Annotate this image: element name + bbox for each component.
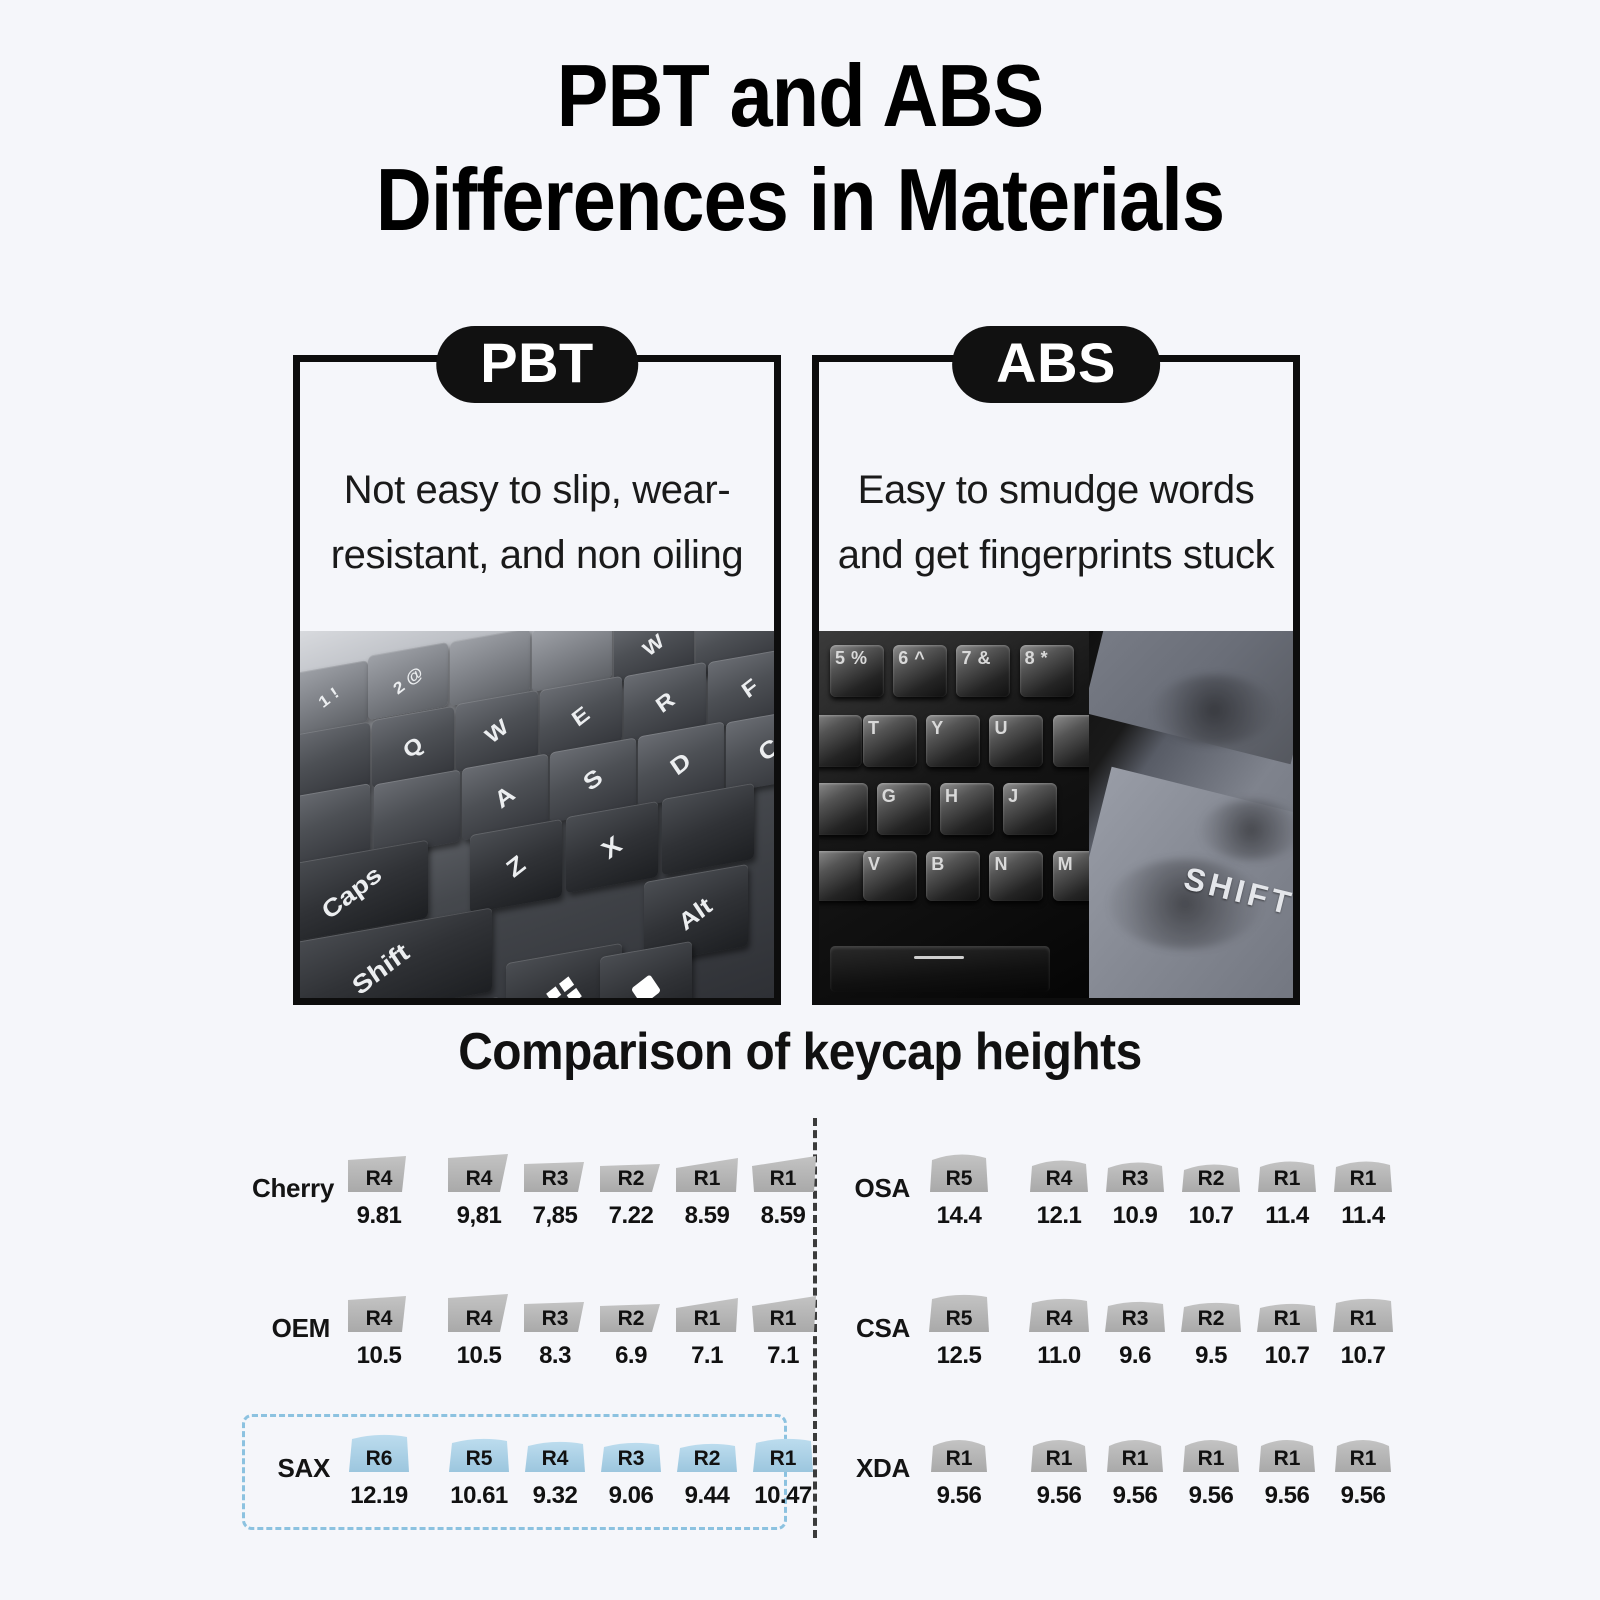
keycap-shape-icon: R3 [1100, 1286, 1170, 1338]
keycap-item: R310.9 [1100, 1146, 1170, 1230]
keycap-shape-icon: R1 [1252, 1426, 1322, 1478]
keycap-shape-icon: R1 [672, 1146, 742, 1198]
keycap-item: R49.32 [520, 1426, 590, 1510]
keycap-height-value: 14.4 [937, 1202, 982, 1230]
keycap-item: R410.5 [344, 1286, 414, 1370]
abs-key-6: 6 ^ [893, 645, 947, 697]
keycap-shape-icon: R1 [1252, 1146, 1322, 1198]
keycap-shape-icon: R1 [1328, 1426, 1398, 1478]
keycap-shape-icon: R6 [344, 1426, 414, 1478]
keycap-item: R111.4 [1252, 1146, 1322, 1230]
profile-row-osa: OSA R514.4 R412.1 R310.9 R210.7 [832, 1118, 1377, 1258]
keycap-shape-icon: R1 [1100, 1426, 1170, 1478]
keycap-item: R110.7 [1252, 1286, 1322, 1370]
keycap-item: R510.61 [444, 1426, 514, 1510]
menu-icon [631, 974, 661, 998]
abs-key-j: J [1003, 783, 1057, 835]
keycap-height-value: 9.56 [1189, 1482, 1234, 1510]
keycap-item: R39.06 [596, 1426, 666, 1510]
keycap-shape-icon: R1 [1176, 1426, 1246, 1478]
keycap-height-value: 7,85 [533, 1202, 578, 1230]
keycap-list: R49.81 R49,81 R37,85 R27.22 R18.59 [340, 1146, 818, 1230]
keycap-item: R27.22 [596, 1146, 666, 1230]
keycap-shape-icon: R2 [1176, 1146, 1246, 1198]
profile-label: CSA [832, 1313, 920, 1344]
keycap-height-value: 8.59 [761, 1202, 806, 1230]
profile-row-sax: SAX R612.19 R510.61 R49.32 R39.06 [252, 1398, 797, 1538]
keycap-shape-icon: R4 [1024, 1146, 1094, 1198]
abs-key-h: H [940, 783, 994, 835]
profile-label: XDA [832, 1453, 920, 1484]
abs-key-space [830, 946, 1050, 992]
keycap-item: R210.7 [1176, 1146, 1246, 1230]
abs-smudge-1 [1154, 675, 1274, 745]
abs-key-m: M [1053, 851, 1094, 901]
keycap-height-value: 7.1 [767, 1342, 799, 1370]
keycap-item: R19.56 [1100, 1426, 1170, 1510]
keycap-height-value: 11.4 [1341, 1202, 1384, 1230]
abs-key-b: B [926, 851, 980, 901]
keycap-item: R110.7 [1328, 1286, 1398, 1370]
keycap-item: R29.44 [672, 1426, 742, 1510]
abs-greasy-shift-image: SHIFT [1089, 631, 1293, 998]
keycap-item: R19.56 [1176, 1426, 1246, 1510]
photo-abs-keyboard: 5 % 6 ^ 7 & 8 * T Y U G H J V B N M [819, 631, 1293, 998]
abs-key-y: Y [926, 715, 980, 767]
keycap-height-value: 10.5 [357, 1342, 402, 1370]
keycap-item: R29.5 [1176, 1286, 1246, 1370]
keycap-height-value: 9.56 [1037, 1482, 1082, 1510]
keycap-item: R39.6 [1100, 1286, 1170, 1370]
abs-key-u: U [989, 715, 1043, 767]
comparison-column-right: OSA R514.4 R412.1 R310.9 R210.7 [832, 1118, 1377, 1538]
keycap-shape-icon: R1 [1024, 1426, 1094, 1478]
keycap-height-value: 10.7 [1265, 1342, 1310, 1370]
keycap-item: R37,85 [520, 1146, 590, 1230]
panel-abs: ABS Easy to smudge words and get fingerp… [812, 355, 1300, 1005]
abs-key-8: 8 * [1020, 645, 1074, 697]
keycap-height-value: 11.0 [1037, 1342, 1080, 1370]
panel-caption-pbt: Not easy to slip, wear-resistant, and no… [316, 458, 758, 588]
profile-label: SAX [252, 1453, 340, 1484]
abs-key-5: 5 % [830, 645, 884, 697]
keycap-height-value: 7.22 [609, 1202, 654, 1230]
keycap-height-value: 9.81 [357, 1202, 402, 1230]
keycap-item: R49,81 [444, 1146, 514, 1230]
keycap-shape-icon: R1 [1328, 1286, 1398, 1338]
keycap-item: R18.59 [672, 1146, 742, 1230]
material-comparison-panels: PBT Not easy to slip, wear-resistant, an… [0, 355, 1600, 1015]
page-title: PBT and ABS Differences in Materials [0, 44, 1600, 252]
keycap-shape-icon: R3 [520, 1146, 590, 1198]
keycap-shape-icon: R1 [748, 1146, 818, 1198]
abs-key-r [819, 715, 862, 767]
keycap-shape-icon: R4 [444, 1146, 514, 1198]
keycap-shape-icon: R1 [1328, 1146, 1398, 1198]
keycap-item: R514.4 [924, 1146, 994, 1230]
photo-pbt-keyboard: 1 ! 2 @ W Q W E R F A S D C [300, 631, 774, 998]
abs-key-v: V [863, 851, 917, 901]
panel-pbt: PBT Not easy to slip, wear-resistant, an… [293, 355, 781, 1005]
keycap-height-value: 9.44 [685, 1482, 730, 1510]
keycap-shape-icon: R2 [672, 1426, 742, 1478]
keycap-height-value: 9.56 [1341, 1482, 1386, 1510]
keycap-item: R110.47 [748, 1426, 818, 1510]
keycap-height-value: 7.1 [691, 1342, 723, 1370]
keycap-list: R512.5 R411.0 R39.6 R29.5 R110.7 [920, 1286, 1398, 1370]
abs-key-c [819, 851, 868, 901]
comparison-column-left: Cherry R49.81 R49,81 R37,85 R27.22 [252, 1118, 797, 1538]
abs-key-7: 7 & [956, 645, 1010, 697]
keycap-shape-icon: R4 [1024, 1286, 1094, 1338]
keycap-height-value: 9.32 [533, 1482, 578, 1510]
panel-caption-abs: Easy to smudge words and get fingerprint… [835, 458, 1277, 588]
keycap-shape-icon: R1 [672, 1286, 742, 1338]
keycap-height-value: 9.56 [1113, 1482, 1158, 1510]
keycap-shape-icon: R1 [748, 1286, 818, 1338]
keycap-height-value: 9.56 [1265, 1482, 1310, 1510]
keycap-shape-icon: R2 [1176, 1286, 1246, 1338]
keycap-height-value: 9.6 [1119, 1342, 1151, 1370]
keycap-shape-icon: R2 [596, 1146, 666, 1198]
keycap-item: R26.9 [596, 1286, 666, 1370]
profile-row-oem: OEM R410.5 R410.5 R38.3 R26.9 [252, 1258, 797, 1398]
keycap-item: R19.56 [1252, 1426, 1322, 1510]
keycap-shape-icon: R3 [520, 1286, 590, 1338]
keycap-shape-icon: R3 [596, 1426, 666, 1478]
abs-key-t: T [863, 715, 917, 767]
keycap-height-value: 12.1 [1037, 1202, 1082, 1230]
keycap-height-value: 6.9 [615, 1342, 647, 1370]
keycap-shape-icon: R3 [1100, 1146, 1170, 1198]
pbt-key-c-right: C [726, 707, 774, 792]
keycap-shape-icon: R1 [1252, 1286, 1322, 1338]
abs-key-f [819, 783, 868, 835]
keycap-height-value: 10.7 [1189, 1202, 1234, 1230]
keycap-height-value: 8.3 [539, 1342, 571, 1370]
keycap-list: R612.19 R510.61 R49.32 R39.06 R29.44 [340, 1426, 818, 1510]
abs-key-g: G [877, 783, 931, 835]
pbt-key-z: Z [470, 819, 562, 913]
keycap-shape-icon: R4 [520, 1426, 590, 1478]
keycap-shape-icon: R4 [444, 1286, 514, 1338]
keycap-item: R512.5 [924, 1286, 994, 1370]
keycap-shape-icon: R2 [596, 1286, 666, 1338]
keycap-height-comparison: Cherry R49.81 R49,81 R37,85 R27.22 [0, 1118, 1600, 1548]
abs-smudge-3 [1201, 800, 1293, 860]
keycap-shape-icon: R4 [344, 1286, 414, 1338]
windows-icon [546, 976, 582, 998]
pbt-key-c [662, 783, 754, 875]
panel-badge-abs: ABS [952, 326, 1160, 403]
keycap-item: R410.5 [444, 1286, 514, 1370]
keycap-list: R19.56 R19.56 R19.56 R19.56 R19.56 [920, 1426, 1398, 1510]
profile-row-cherry: Cherry R49.81 R49,81 R37,85 R27.22 [252, 1118, 797, 1258]
keycap-item: R19.56 [924, 1426, 994, 1510]
keycap-height-value: 11.4 [1265, 1202, 1308, 1230]
keycap-item: R411.0 [1024, 1286, 1094, 1370]
keycap-item: R18.59 [748, 1146, 818, 1230]
keycap-item: R17.1 [748, 1286, 818, 1370]
keycap-height-value: 9,81 [457, 1202, 502, 1230]
keycap-item: R111.4 [1328, 1146, 1398, 1230]
keycap-height-value: 9.06 [609, 1482, 654, 1510]
abs-worn-keyboard-image: 5 % 6 ^ 7 & 8 * T Y U G H J V B N M [819, 631, 1094, 998]
keycap-height-value: 8.59 [685, 1202, 730, 1230]
page-title-line-1: PBT and ABS [96, 44, 1504, 148]
section-heading-keycap-heights: Comparison of keycap heights [64, 1022, 1536, 1082]
keycap-height-value: 10.7 [1341, 1342, 1386, 1370]
profile-label: OEM [252, 1313, 340, 1344]
keycap-list: R410.5 R410.5 R38.3 R26.9 R17.1 [340, 1286, 818, 1370]
keycap-shape-icon: R4 [344, 1146, 414, 1198]
keycap-height-value: 10.5 [457, 1342, 502, 1370]
keycap-height-value: 9.56 [937, 1482, 982, 1510]
keycap-shape-icon: R5 [444, 1426, 514, 1478]
keycap-height-value: 10.61 [450, 1482, 508, 1510]
keycap-item: R612.19 [344, 1426, 414, 1510]
keycap-item: R17.1 [672, 1286, 742, 1370]
abs-key-n: N [989, 851, 1043, 901]
keycap-height-value: 10.9 [1113, 1202, 1158, 1230]
keycap-height-value: 12.19 [350, 1482, 408, 1510]
keycap-shape-icon: R5 [924, 1286, 994, 1338]
keycap-shape-icon: R5 [924, 1146, 994, 1198]
keycap-item: R49.81 [344, 1146, 414, 1230]
panel-badge-pbt: PBT [436, 326, 638, 403]
page-title-line-2: Differences in Materials [96, 148, 1504, 252]
keycap-item: R19.56 [1328, 1426, 1398, 1510]
abs-key-i [1053, 715, 1094, 767]
keycap-height-value: 12.5 [937, 1342, 982, 1370]
profile-label: OSA [832, 1173, 920, 1204]
keycap-item: R19.56 [1024, 1426, 1094, 1510]
profile-row-xda: XDA R19.56 R19.56 R19.56 R19.56 [832, 1398, 1377, 1538]
keycap-item: R412.1 [1024, 1146, 1094, 1230]
pbt-key-x: X [566, 801, 658, 893]
keycap-shape-icon: R1 [924, 1426, 994, 1478]
keycap-item: R38.3 [520, 1286, 590, 1370]
keycap-list: R514.4 R412.1 R310.9 R210.7 R111.4 [920, 1146, 1398, 1230]
pbt-keyboard-image: 1 ! 2 @ W Q W E R F A S D C [300, 631, 774, 998]
profile-label: Cherry [252, 1173, 340, 1204]
profile-row-csa: CSA R512.5 R411.0 R39.6 R29.5 [832, 1258, 1377, 1398]
keycap-height-value: 10.47 [754, 1482, 812, 1510]
keycap-shape-icon: R1 [748, 1426, 818, 1478]
keycap-height-value: 9.5 [1195, 1342, 1227, 1370]
